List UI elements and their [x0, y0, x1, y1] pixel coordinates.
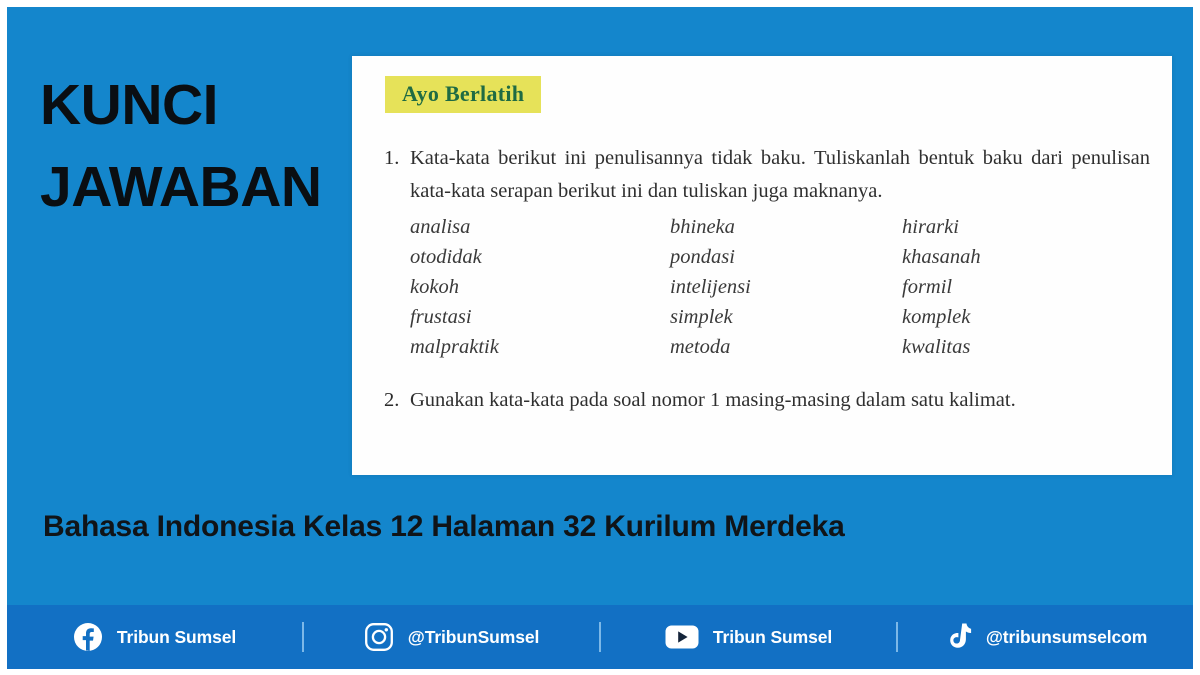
word-item: simplek — [670, 302, 902, 332]
social-label-instagram: @TribunSumsel — [408, 627, 539, 648]
word-item: kokoh — [410, 272, 670, 302]
poster: KUNCI JAWABAN Ayo Berlatih 1. Kata-kata … — [0, 0, 1200, 675]
question-text: Kata-kata berikut ini penulisannya tidak… — [410, 142, 1150, 208]
social-item-instagram[interactable]: @TribunSumsel — [304, 622, 599, 652]
ayo-berlatih-badge: Ayo Berlatih — [385, 76, 541, 113]
word-item: malpraktik — [410, 332, 670, 362]
word-item: bhineka — [670, 212, 902, 242]
word-item: hirarki — [902, 212, 1150, 242]
question-item-2: 2. Gunakan kata-kata pada soal nomor 1 m… — [374, 384, 1150, 417]
poster-background: KUNCI JAWABAN Ayo Berlatih 1. Kata-kata … — [7, 7, 1193, 669]
question-number: 2. — [374, 384, 410, 417]
social-label-tiktok: @tribunsumselcom — [986, 627, 1147, 648]
tiktok-icon — [944, 622, 972, 652]
word-item: metoda — [670, 332, 902, 362]
question-list: 1. Kata-kata berikut ini penulisannya ti… — [374, 142, 1150, 417]
word-item: pondasi — [670, 242, 902, 272]
question-item-1: 1. Kata-kata berikut ini penulisannya ti… — [374, 142, 1150, 362]
social-item-tiktok[interactable]: @tribunsumselcom — [898, 622, 1193, 652]
social-footer-bar: Tribun Sumsel @TribunSumsel — [7, 605, 1193, 669]
worksheet-card: Ayo Berlatih 1. Kata-kata berikut ini pe… — [352, 56, 1172, 475]
word-item: intelijensi — [670, 272, 902, 302]
word-grid: analisa bhineka hirarki otodidak pondasi… — [410, 212, 1150, 362]
word-item: kwalitas — [902, 332, 1150, 362]
word-item: frustasi — [410, 302, 670, 332]
facebook-icon — [73, 622, 103, 652]
question-body: Gunakan kata-kata pada soal nomor 1 masi… — [410, 384, 1150, 417]
question-body: Kata-kata berikut ini penulisannya tidak… — [410, 142, 1150, 362]
social-item-youtube[interactable]: Tribun Sumsel — [601, 624, 896, 650]
instagram-icon — [364, 622, 394, 652]
page-title: KUNCI JAWABAN — [40, 65, 370, 228]
word-item: otodidak — [410, 242, 670, 272]
question-number: 1. — [374, 142, 410, 175]
page-title-line-2: JAWABAN — [40, 147, 370, 229]
question-text: Gunakan kata-kata pada soal nomor 1 masi… — [410, 384, 1150, 417]
word-item: komplek — [902, 302, 1150, 332]
caption-text: Bahasa Indonesia Kelas 12 Halaman 32 Kur… — [43, 510, 845, 544]
youtube-icon — [665, 624, 699, 650]
social-label-youtube: Tribun Sumsel — [713, 627, 832, 648]
word-item: khasanah — [902, 242, 1150, 272]
social-item-facebook[interactable]: Tribun Sumsel — [7, 622, 302, 652]
page-title-line-1: KUNCI — [40, 65, 370, 147]
word-item: analisa — [410, 212, 670, 242]
word-item: formil — [902, 272, 1150, 302]
social-label-facebook: Tribun Sumsel — [117, 627, 236, 648]
